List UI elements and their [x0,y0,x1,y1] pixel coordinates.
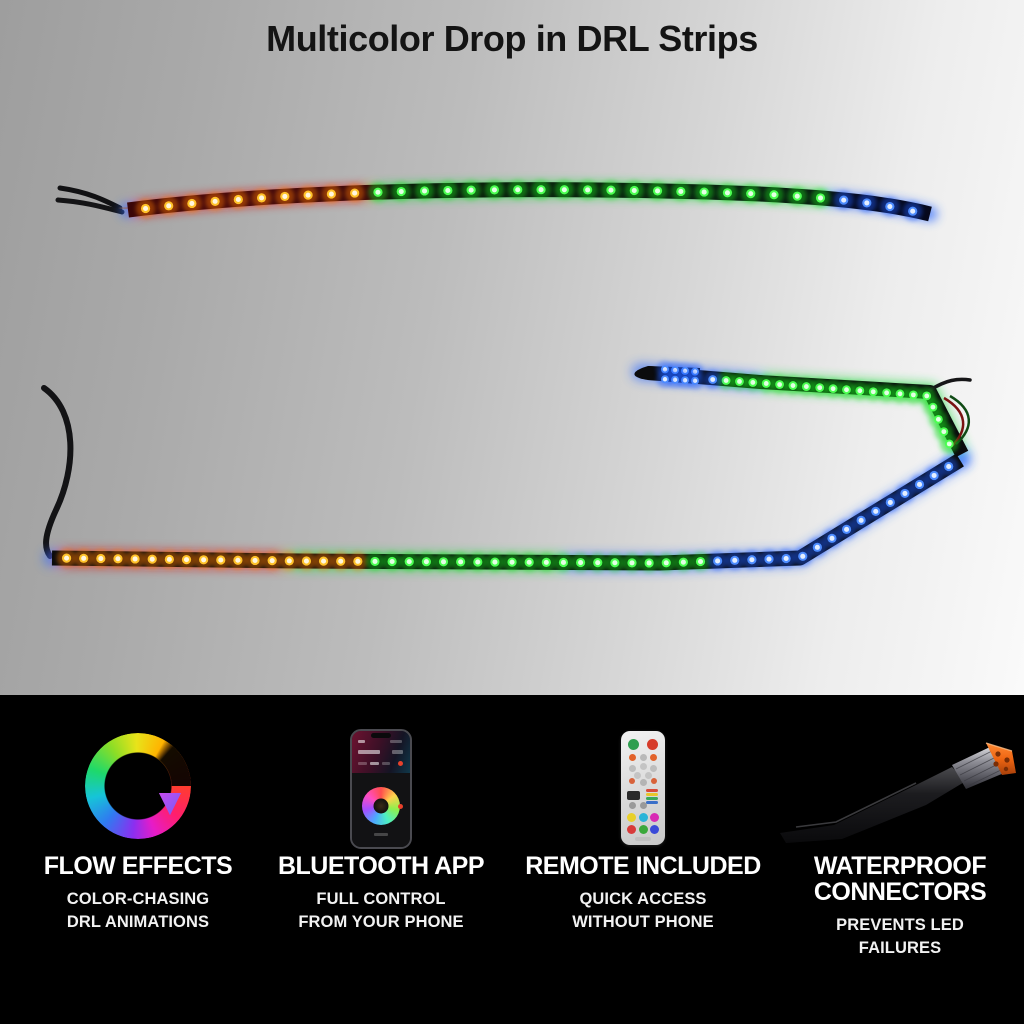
phone-notch [371,733,391,738]
remote-brand-label [635,837,651,841]
phone-ui-bar [382,762,390,765]
remote-button [650,813,659,822]
remote-dpad-up [640,763,647,770]
remote-button [650,825,659,834]
remote-button [646,793,658,796]
feature-subtitle: COLOR-CHASING DRL ANIMATIONS [18,888,258,935]
feature-subtitle-line: FAILURES [776,937,1024,960]
phone-wheel-handle [398,804,403,809]
feature-title: WATERPROOF CONNECTORS [776,853,1024,905]
remote-button [639,813,648,822]
phone-color-picker-screen [352,773,410,847]
remote-button [646,801,658,804]
feature-title-line: CONNECTORS [814,878,986,906]
remote-button [627,813,636,822]
feature-subtitle-line: PREVENTS LED [776,914,1024,937]
feature-subtitle: PREVENTS LED FAILURES [776,914,1024,961]
remote-button [640,802,647,809]
waterproof-connector-art [776,729,1024,847]
phone-record-dot [398,761,403,766]
feature-bluetooth-app: BLUETOOTH APP FULL CONTROL FROM YOUR PHO… [262,695,500,1024]
feature-panel: FLOW EFFECTS COLOR-CHASING DRL ANIMATION… [0,695,1024,1024]
remote-button [650,765,657,772]
product-infographic: Multicolor Drop in DRL Strips [0,0,1024,1024]
remote-button [639,825,648,834]
phone-color-wheel [362,787,400,825]
feature-waterproof-connectors: WATERPROOF CONNECTORS PREVENTS LED FAILU… [776,695,1024,1024]
smartphone-app-icon [350,729,412,849]
remote-button [629,778,635,784]
bluetooth-app-art [262,729,500,847]
phone-ui-bar [358,740,365,743]
feature-subtitle-line: FROM YOUR PHONE [262,911,500,934]
page-title: Multicolor Drop in DRL Strips [0,18,1024,60]
remote-button [627,825,636,834]
remote-button [640,754,647,761]
feature-subtitle-line: QUICK ACCESS [512,888,774,911]
remote-button [629,754,636,761]
feature-title: REMOTE INCLUDED [512,853,774,879]
remote-control-icon [621,731,665,845]
remote-button [629,802,636,809]
remote-button [646,797,658,800]
feature-title: BLUETOOTH APP [262,853,500,879]
feature-subtitle: FULL CONTROL FROM YOUR PHONE [262,888,500,935]
remote-dpad-down [640,779,647,786]
feature-flow-effects: FLOW EFFECTS COLOR-CHASING DRL ANIMATION… [18,695,258,1024]
bottom-drl-strip [0,350,1024,680]
phone-ui-bar [358,762,367,765]
remote-button [651,778,657,784]
phone-ui-bar [392,750,403,754]
remote-button [650,754,657,761]
feature-subtitle-line: FULL CONTROL [262,888,500,911]
waterproof-connector-icon [776,729,1024,847]
phone-ui-bar [358,750,380,754]
feature-subtitle-line: WITHOUT PHONE [512,911,774,934]
phone-ui-bar [370,762,379,765]
feature-remote-included: REMOTE INCLUDED QUICK ACCESS WITHOUT PHO… [512,695,774,1024]
flow-arrow-icon [85,733,191,839]
remote-button [629,765,636,772]
phone-ui-bar [390,740,402,743]
remote-button [646,789,658,792]
remote-button [628,739,639,750]
remote-button [627,791,640,800]
feature-subtitle: QUICK ACCESS WITHOUT PHONE [512,888,774,935]
flow-effects-art [18,729,258,847]
product-stage: Multicolor Drop in DRL Strips [0,0,1024,695]
remote-art [512,729,774,847]
phone-ui-bar [374,833,388,836]
remote-dpad-left [634,772,641,779]
feature-subtitle-line: COLOR-CHASING [18,888,258,911]
feature-title: FLOW EFFECTS [18,853,258,879]
feature-subtitle-line: DRL ANIMATIONS [18,911,258,934]
feature-title-line: WATERPROOF [814,852,986,880]
remote-button [647,739,658,750]
